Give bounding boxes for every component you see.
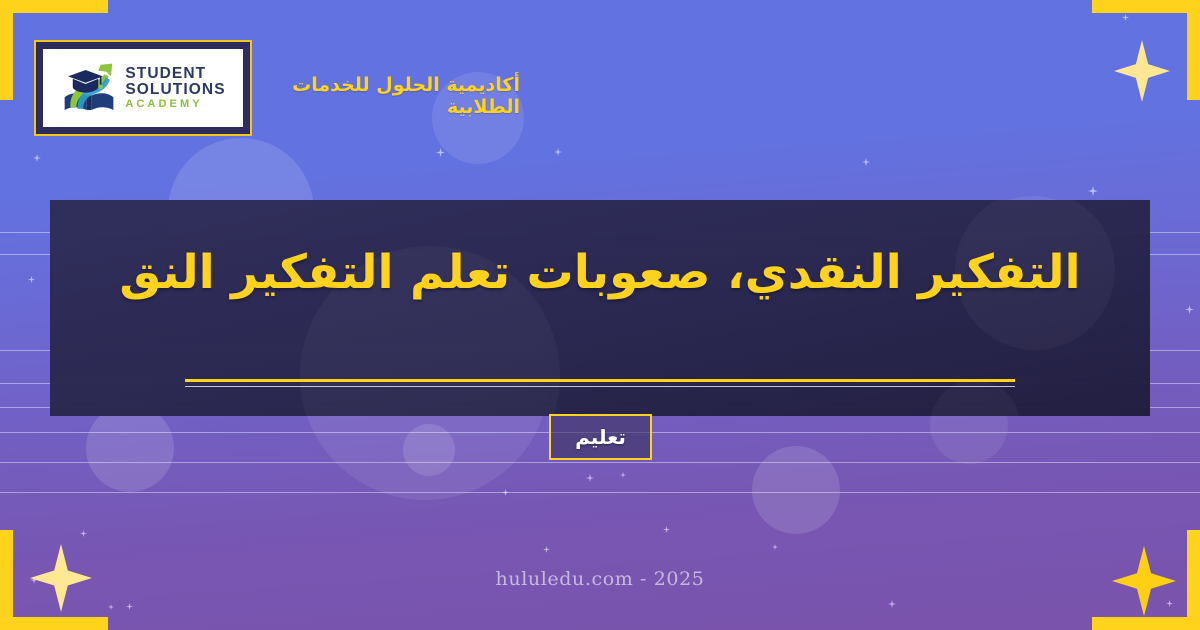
- logo-line-3: ACADEMY: [125, 99, 225, 110]
- hero-title-underline: [185, 379, 1015, 382]
- decor-sparkle: [620, 472, 626, 478]
- decor-sparkle: [554, 148, 562, 156]
- decor-sparkle: [502, 489, 509, 496]
- decor-sparkle: [33, 154, 41, 162]
- brand-arabic-name: أكاديمية الحلول للخدمات الطلابية: [258, 74, 520, 118]
- poster-canvas: STUDENT SOLUTIONS ACADEMY أكاديمية الحلو…: [0, 0, 1200, 630]
- brand-logo-wordmark: STUDENT SOLUTIONS ACADEMY: [125, 66, 225, 110]
- graduation-cap-book-arrow-icon: [60, 59, 118, 117]
- decor-bubble: [86, 404, 174, 492]
- decor-sparkle: [108, 604, 114, 610]
- logo-line-2: SOLUTIONS: [125, 82, 225, 98]
- brand-logo-frame: STUDENT SOLUTIONS ACADEMY: [34, 40, 252, 136]
- decor-rule: [0, 462, 1200, 463]
- logo-line-1: STUDENT: [125, 66, 225, 82]
- category-badge-label: تعليم: [575, 425, 626, 449]
- hero-title-panel: التفكير النقدي، صعوبات تعلم التفكير النق: [50, 200, 1150, 416]
- decor-rule: [0, 492, 1200, 493]
- hero-title-underline-secondary: [185, 386, 1015, 387]
- decor-sparkle: [862, 158, 870, 166]
- hero-title: التفكير النقدي، صعوبات تعلم التفكير النق: [50, 244, 1150, 303]
- decor-sparkle: [888, 600, 896, 608]
- decor-sparkle: [28, 276, 35, 283]
- decor-sparkle: [126, 603, 133, 610]
- decor-sparkle: [586, 474, 594, 482]
- decor-bubble: [752, 446, 840, 534]
- decor-sparkle: [1088, 186, 1098, 196]
- footer-credit: hululedu.com - 2025: [0, 568, 1200, 590]
- decor-sparkle: [663, 526, 670, 533]
- decor-sparkle: [543, 546, 550, 553]
- category-badge: تعليم: [549, 414, 652, 460]
- decor-sparkle: [1185, 305, 1194, 314]
- decor-bubble: [403, 424, 455, 476]
- decor-sparkle: [772, 544, 778, 550]
- brand-logo-card: STUDENT SOLUTIONS ACADEMY: [43, 49, 243, 127]
